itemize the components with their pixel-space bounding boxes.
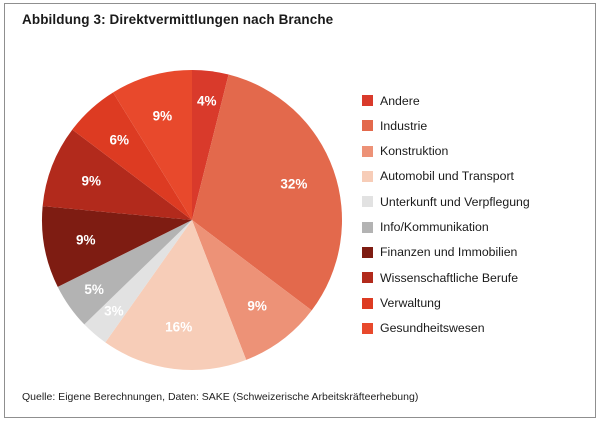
legend-item[interactable]: Verwaltung — [362, 290, 590, 315]
legend-swatch-icon — [362, 298, 373, 309]
legend-item-label: Info/Kommunikation — [380, 221, 489, 233]
pie-slice-label: 4% — [197, 93, 217, 108]
legend-swatch-icon — [362, 120, 373, 131]
pie-slice-label: 9% — [82, 174, 102, 189]
legend-item[interactable]: Finanzen und Immobilien — [362, 240, 590, 265]
legend-item[interactable]: Info/Kommunikation — [362, 214, 590, 239]
legend-item-label: Konstruktion — [380, 145, 448, 157]
legend-item-label: Gesundheitswesen — [380, 322, 485, 334]
legend-swatch-icon — [362, 272, 373, 283]
legend-swatch-icon — [362, 196, 373, 207]
legend-item-label: Andere — [380, 95, 420, 107]
legend-swatch-icon — [362, 247, 373, 258]
pie-slice-label: 6% — [109, 133, 129, 148]
legend: AndereIndustrieKonstruktionAutomobil und… — [362, 88, 590, 341]
pie-chart-svg: 4%32%9%16%3%5%9%9%6%9% — [26, 54, 358, 386]
legend-item-label: Industrie — [380, 120, 427, 132]
pie-slice-label: 32% — [280, 177, 307, 192]
legend-item-label: Verwaltung — [380, 297, 441, 309]
pie-slice-label: 9% — [153, 109, 173, 124]
legend-item[interactable]: Andere — [362, 88, 590, 113]
pie-chart: 4%32%9%16%3%5%9%9%6%9% — [26, 54, 358, 386]
legend-item[interactable]: Automobil und Transport — [362, 164, 590, 189]
pie-slice-label: 9% — [247, 299, 267, 314]
legend-swatch-icon — [362, 171, 373, 182]
legend-item[interactable]: Konstruktion — [362, 139, 590, 164]
legend-item[interactable]: Unterkunft und Verpflegung — [362, 189, 590, 214]
legend-swatch-icon — [362, 146, 373, 157]
pie-slice-label: 9% — [76, 232, 96, 247]
source-note: Quelle: Eigene Berechnungen, Daten: SAKE… — [22, 391, 418, 403]
legend-swatch-icon — [362, 95, 373, 106]
legend-item[interactable]: Wissenschaftliche Berufe — [362, 265, 590, 290]
pie-slice-label: 5% — [84, 282, 104, 297]
pie-slice-label: 3% — [104, 304, 124, 319]
legend-swatch-icon — [362, 323, 373, 334]
legend-item-label: Unterkunft und Verpflegung — [380, 196, 530, 208]
legend-item-label: Wissenschaftliche Berufe — [380, 272, 518, 284]
page-title: Abbildung 3: Direktvermittlungen nach Br… — [22, 12, 333, 27]
legend-item-label: Automobil und Transport — [380, 170, 514, 182]
figure-container: Abbildung 3: Direktvermittlungen nach Br… — [0, 0, 600, 421]
legend-item[interactable]: Industrie — [362, 113, 590, 138]
legend-item-label: Finanzen und Immobilien — [380, 246, 517, 258]
pie-slice-label: 16% — [165, 320, 192, 335]
legend-item[interactable]: Gesundheitswesen — [362, 316, 590, 341]
legend-swatch-icon — [362, 222, 373, 233]
